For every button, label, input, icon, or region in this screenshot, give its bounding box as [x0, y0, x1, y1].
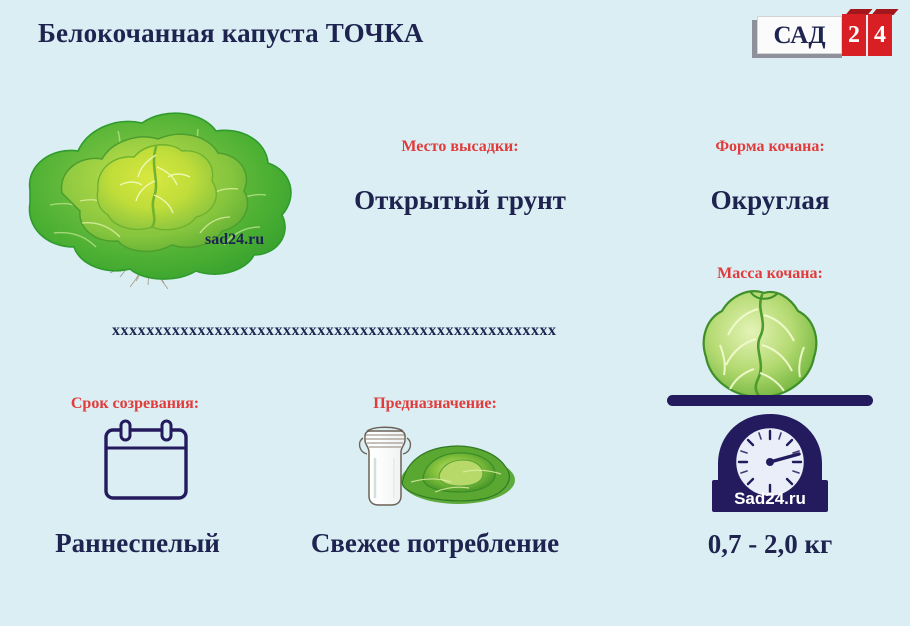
purpose-label: Предназначение:	[300, 395, 570, 413]
calendar-icon	[98, 418, 194, 504]
logo-word-text: САД	[773, 23, 825, 48]
head-mass-value: 0,7 - 2,0 кг	[655, 529, 885, 560]
head-mass-label: Масса кочана:	[655, 265, 885, 283]
logo-digit-1-block: 2	[842, 14, 866, 56]
infographic-canvas: Белокочанная капуста ТОЧКА САД 2 4	[0, 0, 910, 626]
ripening-period-label: Срок созревания:	[35, 395, 235, 413]
ripening-period-value: Раннеспелый	[15, 528, 260, 559]
page-title: Белокочанная капуста ТОЧКА	[38, 18, 424, 49]
watermark-sad24-main: sad24.ru	[205, 231, 264, 249]
jar-and-cabbage-icon	[345, 418, 520, 508]
purpose-value: Свежее потребление	[270, 528, 600, 559]
planting-place-value: Открытый грунт	[320, 185, 600, 216]
logo-digit-2-text: 4	[874, 23, 886, 47]
head-shape-label: Форма кочана:	[650, 138, 890, 156]
redacted-text-line: xxxxxxxxxxxxxxxxxxxxxxxxxxxxxxxxxxxxxxxx…	[112, 322, 557, 340]
cabbage-head-illustration	[10, 85, 305, 300]
logo-word-block: САД	[757, 16, 842, 54]
logo-digit-2-block: 4	[868, 14, 892, 56]
logo-digit-1-text: 2	[848, 23, 860, 47]
head-shape-value: Округлая	[650, 185, 890, 216]
kitchen-scale-icon: Sad24.ru	[660, 392, 880, 512]
planting-place-label: Место высадки:	[340, 138, 580, 156]
scale-base-watermark-text: Sad24.ru	[734, 489, 806, 508]
sad24-logo[interactable]: САД 2 4	[752, 14, 884, 62]
cabbage-on-scale-icon	[690, 285, 840, 405]
